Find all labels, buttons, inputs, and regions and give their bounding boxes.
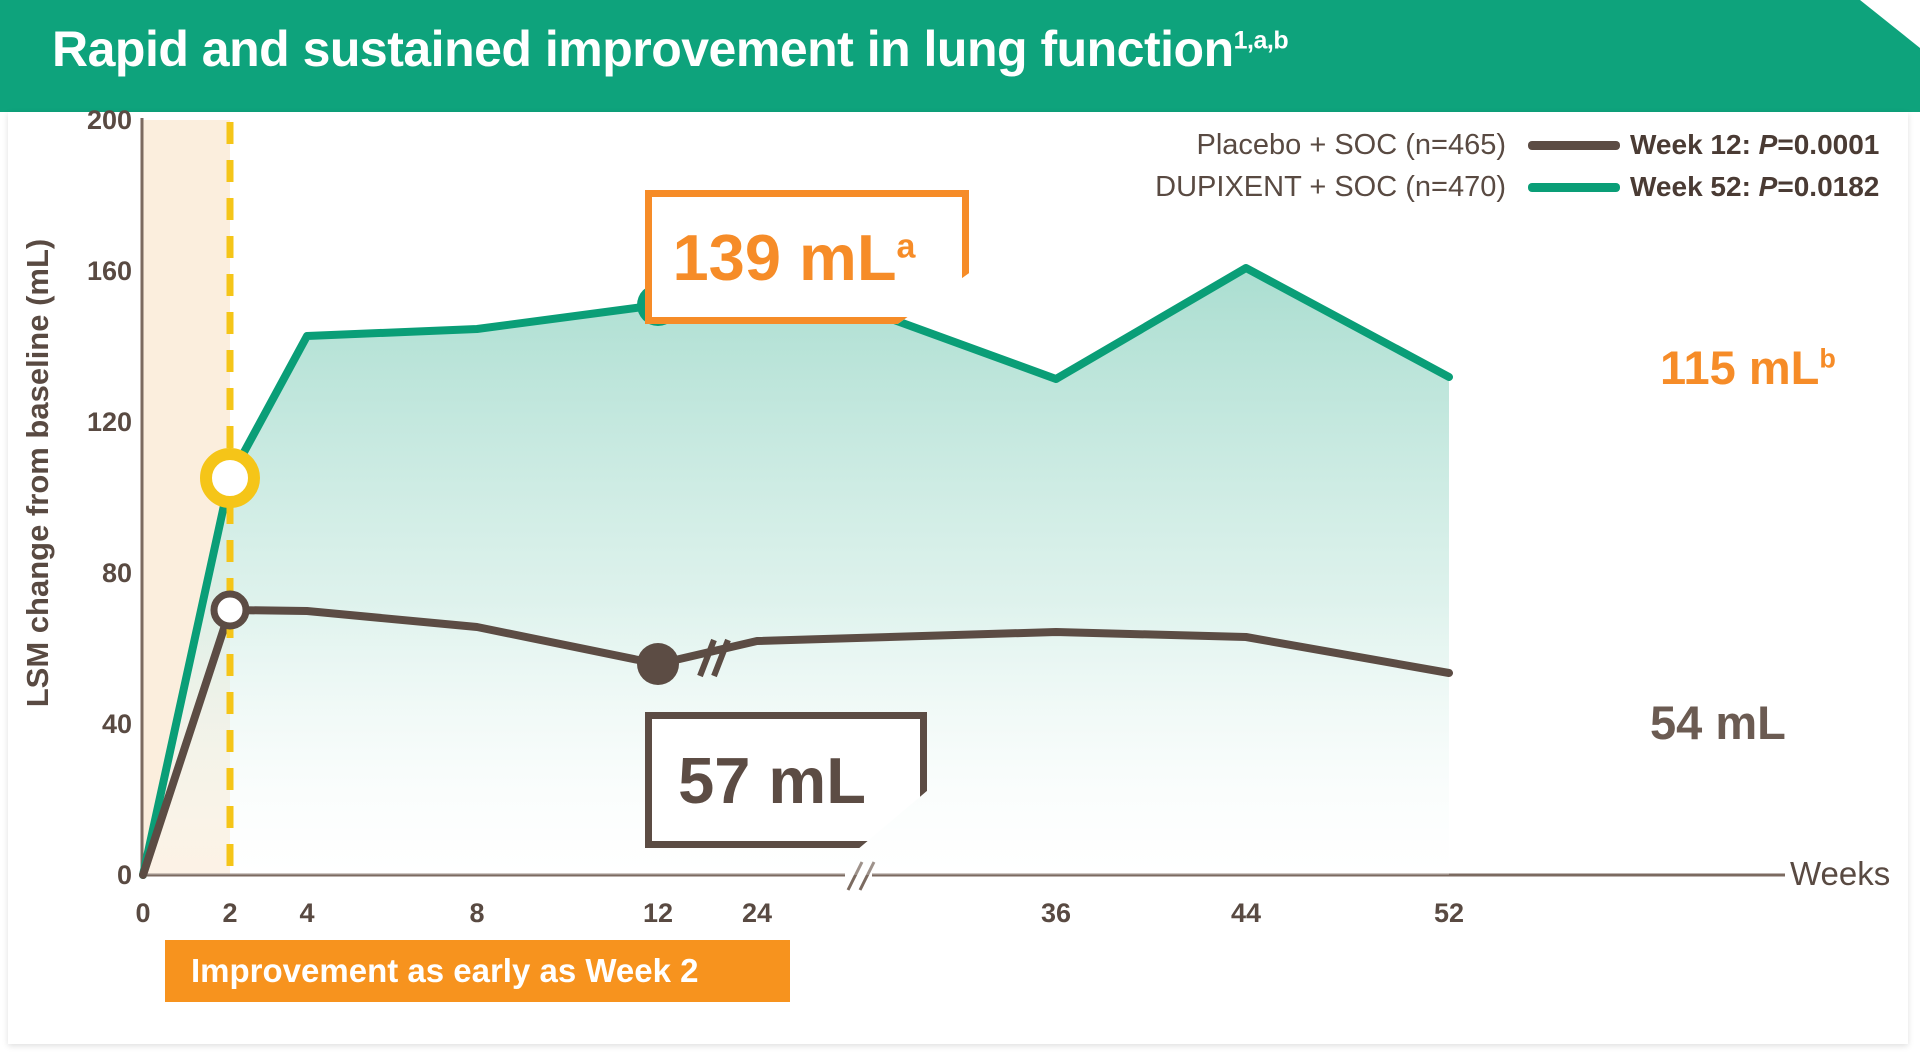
p-value-week52-label: Week 52:	[1630, 171, 1751, 202]
improvement-banner: Improvement as early as Week 2	[165, 940, 790, 1002]
callout-placebo-week12-value: 57 mL	[678, 743, 894, 818]
x-tick-2: 2	[190, 898, 270, 929]
p-value-week52-symbol: P	[1759, 171, 1778, 202]
callout-dupixent-week52-value: 115 mL	[1660, 341, 1819, 394]
slide-root: Rapid and sustained improvement in lung …	[0, 0, 1920, 1056]
p-value-week12-number: =0.0001	[1777, 129, 1879, 160]
x-tick-0: 0	[103, 898, 183, 929]
page-title-superscript: 1,a,b	[1234, 26, 1288, 54]
y-tick-120: 120	[62, 407, 132, 438]
callout-placebo-week52-value: 54 mL	[1650, 696, 1786, 749]
p-value-week12-label: Week 12:	[1630, 129, 1751, 160]
chart-legend: Placebo + SOC (n=465) DUPIXENT + SOC (n=…	[1060, 124, 1620, 208]
y-axis-title: LSM change from baseline (mL)	[20, 173, 56, 773]
callout-dupixent-week52: 115 mLb	[1660, 340, 1836, 395]
x-tick-36: 36	[1016, 898, 1096, 929]
p-value-week52-number: =0.0182	[1777, 171, 1879, 202]
y-tick-160: 160	[62, 256, 132, 287]
page-title: Rapid and sustained improvement in lung …	[52, 20, 1288, 78]
legend-swatch-placebo-icon	[1528, 141, 1620, 150]
callout-dupixent-week12-value: 139 mL	[673, 221, 897, 294]
p-value-week12-symbol: P	[1759, 129, 1778, 160]
improvement-banner-text: Improvement as early as Week 2	[165, 952, 699, 990]
p-value-week52: Week 52: P=0.0182	[1630, 166, 1879, 208]
callout-placebo-week52: 54 mL	[1650, 695, 1786, 750]
callout-dupixent-week12-superscript: a	[897, 227, 916, 265]
x-tick-24: 24	[717, 898, 797, 929]
x-tick-12: 12	[618, 898, 698, 929]
y-tick-0: 0	[62, 860, 132, 891]
page-title-text: Rapid and sustained improvement in lung …	[52, 21, 1234, 77]
legend-swatch-dupixent-icon	[1528, 183, 1620, 192]
x-tick-8: 8	[437, 898, 517, 929]
x-tick-4: 4	[267, 898, 347, 929]
p-values: Week 12: P=0.0001 Week 52: P=0.0182	[1630, 124, 1879, 208]
legend-label-dupixent: DUPIXENT + SOC (n=470)	[1155, 171, 1506, 204]
callout-dupixent-week12-text: 139 mLa	[673, 220, 942, 295]
legend-item-dupixent: DUPIXENT + SOC (n=470)	[1060, 166, 1620, 208]
y-tick-40: 40	[62, 709, 132, 740]
legend-label-placebo: Placebo + SOC (n=465)	[1196, 129, 1506, 162]
p-value-week12: Week 12: P=0.0001	[1630, 124, 1879, 166]
y-tick-80: 80	[62, 558, 132, 589]
x-axis-title: Weeks	[1790, 855, 1890, 893]
legend-item-placebo: Placebo + SOC (n=465)	[1060, 124, 1620, 166]
x-tick-44: 44	[1206, 898, 1286, 929]
x-tick-52: 52	[1409, 898, 1489, 929]
callout-dupixent-week52-superscript: b	[1819, 343, 1836, 373]
callout-dupixent-week12: 139 mLa	[645, 190, 969, 324]
y-tick-200: 200	[62, 105, 132, 136]
